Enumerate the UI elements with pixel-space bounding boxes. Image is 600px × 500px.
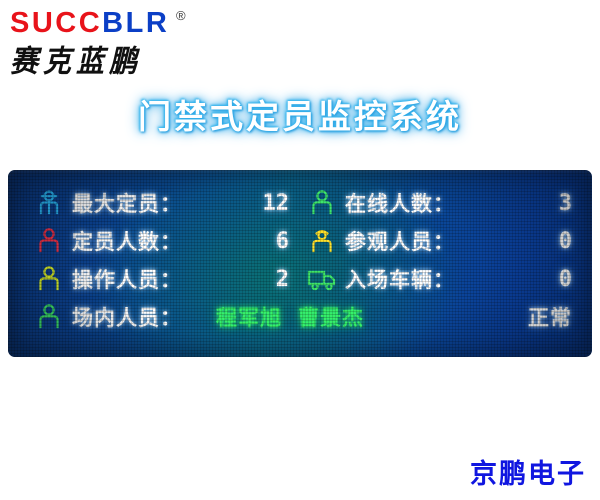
led-cell-visitor-count: 参观人员： 0 <box>305 225 578 257</box>
led-row-onsite-personnel: 场内人员： 程军旭 曹景杰 正常 <box>32 298 578 336</box>
person-icon <box>32 301 66 333</box>
status-badge: 正常 <box>528 302 578 332</box>
logo-chinese-text: 赛克蓝鹏 <box>10 38 142 81</box>
led-row: 最大定员： 12 在线人数： 3 <box>32 184 578 222</box>
registered-trademark-icon: ® <box>176 8 186 23</box>
person-cap-icon <box>32 187 66 219</box>
led-value: 0 <box>559 229 578 254</box>
led-cell-operator-count: 操作人员： 2 <box>32 263 305 295</box>
logo-succ-text: SUCC <box>10 7 102 39</box>
person-icon <box>305 187 339 219</box>
led-label: 入场车辆： <box>339 264 455 294</box>
led-cell-max-capacity: 最大定员： 12 <box>32 187 305 219</box>
led-row: 定员人数： 6 参观人员： 0 <box>32 222 578 260</box>
led-value: 12 <box>263 191 306 216</box>
person-icon <box>32 225 66 257</box>
led-value: 2 <box>276 267 305 292</box>
led-cell-registered-count: 定员人数： 6 <box>32 225 305 257</box>
led-cell-vehicle-count: 入场车辆： 0 <box>305 263 578 295</box>
led-label: 操作人员： <box>66 264 182 294</box>
led-value: 3 <box>559 191 578 216</box>
logo-latin-text: SUCCBLR <box>10 8 169 38</box>
led-label: 参观人员： <box>339 226 455 256</box>
led-value: 6 <box>276 229 305 254</box>
truck-icon <box>305 263 339 295</box>
onsite-person-name: 曹景杰 <box>298 302 364 332</box>
led-label: 在线人数： <box>339 188 455 218</box>
led-value: 0 <box>559 267 578 292</box>
led-cell-online-count: 在线人数： 3 <box>305 187 578 219</box>
led-display-panel: 最大定员： 12 在线人数： 3 <box>8 170 592 357</box>
person-icon <box>32 263 66 295</box>
led-label: 场内人员： <box>66 302 182 332</box>
footer-brand-text: 京鹏电子 <box>470 452 586 491</box>
led-label: 最大定员： <box>66 188 182 218</box>
logo-blr-text: BLR <box>102 7 169 39</box>
page-title: 门禁式定员监控系统 <box>0 90 600 138</box>
led-label: 定员人数： <box>66 226 182 256</box>
led-row: 操作人员： 2 入场车辆： 0 <box>32 260 578 298</box>
onsite-person-name: 程军旭 <box>216 302 282 332</box>
person-hat-icon <box>305 225 339 257</box>
led-content: 最大定员： 12 在线人数： 3 <box>8 170 592 357</box>
company-logo: SUCCBLR ® 赛克蓝鹏 <box>8 6 228 72</box>
